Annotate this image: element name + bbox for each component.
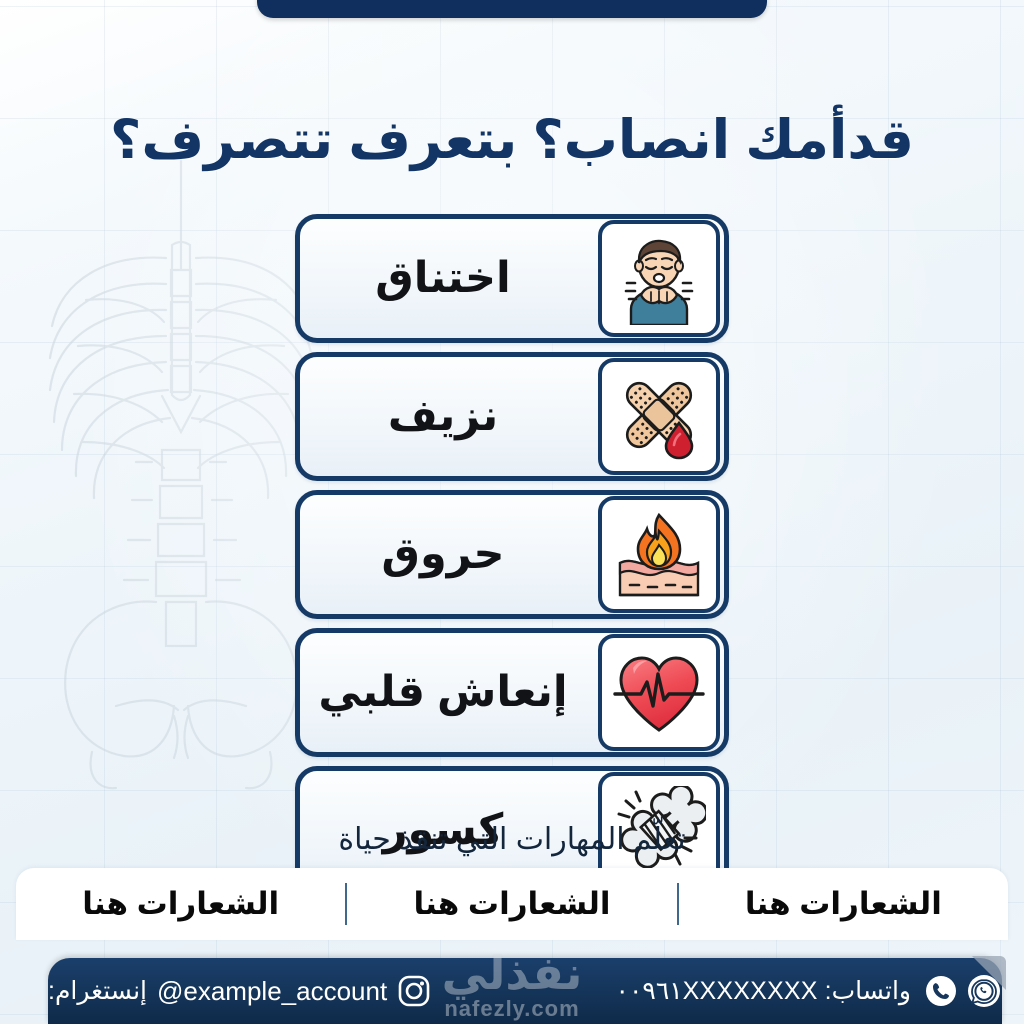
list-item-bleeding[interactable]: نزيف (295, 352, 729, 481)
logo-slot-2[interactable]: الشعارات هنا (347, 886, 676, 922)
icon-frame (598, 634, 720, 751)
poster-canvas: قدأمك انصاب؟ بتعرف تتصرف؟ اختناق (0, 0, 1024, 1024)
logo-divider (677, 883, 679, 925)
emergency-topics-list: اختناق (295, 214, 729, 895)
logo-slot-1[interactable]: الشعارات هنا (16, 886, 345, 922)
instagram-label: إنستغرام: (48, 976, 147, 1006)
bandages-blood-drop-icon (613, 373, 705, 461)
logos-placeholder-bar: الشعارات هنا الشعارات هنا الشعارات هنا (16, 868, 1008, 940)
list-item-choking[interactable]: اختناق (295, 214, 729, 343)
page-title: قدأمك انصاب؟ بتعرف تتصرف؟ (0, 108, 1024, 174)
icon-frame (598, 358, 720, 475)
whatsapp-number: واتساب: ٠٠٩٦١XXXXXXXX (616, 976, 911, 1006)
flame-on-skin-icon (612, 511, 706, 599)
phone-icon[interactable] (923, 973, 959, 1009)
top-navy-tab (257, 0, 767, 18)
icon-frame (598, 220, 720, 337)
icon-frame (598, 496, 720, 613)
logo-divider (345, 883, 347, 925)
instagram-handle: @example_account (157, 976, 387, 1007)
contact-footer-bar: إنستغرام: @example_account واتساب: ٠٠٩٦١… (48, 958, 1002, 1024)
tagline: تعلّم المهارات التي تنقذ حياة (0, 822, 1024, 857)
instagram-icon[interactable] (397, 974, 431, 1008)
list-item-cpr[interactable]: إنعاش قلبي (295, 628, 729, 757)
list-item-burns[interactable]: حروق (295, 490, 729, 619)
whatsapp-contact-group[interactable]: واتساب: ٠٠٩٦١XXXXXXXX (602, 973, 1002, 1009)
list-item-label: نزيف (300, 395, 594, 438)
logo-slot-3[interactable]: الشعارات هنا (679, 886, 1008, 922)
list-item-label: حروق (300, 533, 594, 576)
list-item-label: إنعاش قلبي (300, 671, 594, 714)
heart-ecg-icon (611, 650, 707, 736)
instagram-contact-group[interactable]: إنستغرام: @example_account (48, 974, 431, 1008)
choking-person-icon (611, 233, 707, 325)
list-item-label: اختناق (300, 257, 594, 300)
